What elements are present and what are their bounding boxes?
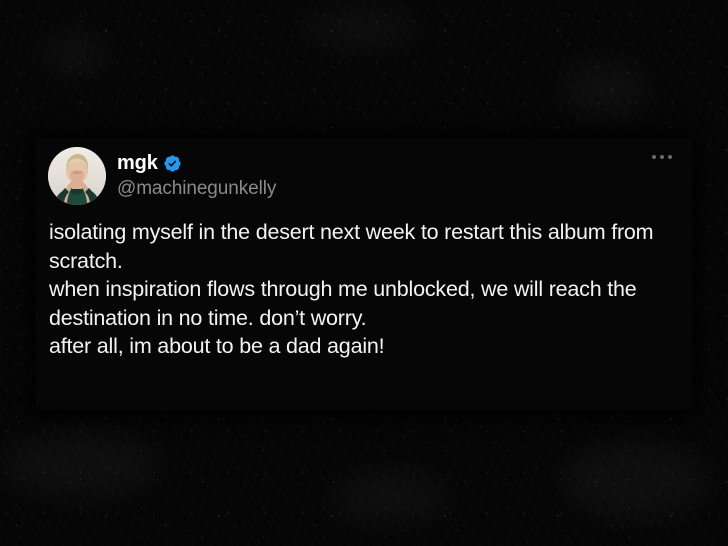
- tweet-paragraph: isolating myself in the desert next week…: [49, 218, 674, 275]
- tweet-text: isolating myself in the desert next week…: [36, 200, 692, 361]
- tweet-paragraph: when inspiration flows through me unbloc…: [49, 275, 674, 332]
- dot: [668, 155, 672, 159]
- texture-blotch: [560, 60, 650, 120]
- texture-blotch: [300, 8, 420, 48]
- ellipsis-horizontal-icon[interactable]: [652, 155, 672, 159]
- texture-blotch: [330, 470, 450, 525]
- texture-blotch: [40, 30, 110, 76]
- author-handle: @machinegunkelly: [117, 178, 276, 200]
- verified-badge-icon: [163, 154, 182, 173]
- texture-blotch: [0, 430, 160, 500]
- tweet-paragraph: after all, im about to be a dad again!: [49, 332, 674, 361]
- author-display-name: mgk: [117, 152, 158, 175]
- author-identity[interactable]: mgk @machinegunkelly: [117, 152, 276, 199]
- display-name-row: mgk: [117, 152, 276, 175]
- avatar[interactable]: [48, 147, 106, 205]
- dot: [660, 155, 664, 159]
- dot: [652, 155, 656, 159]
- tweet-card[interactable]: mgk @machinegunkelly isolating myself in…: [36, 138, 692, 410]
- texture-blotch: [560, 440, 710, 520]
- tweet-header: mgk @machinegunkelly: [36, 138, 692, 200]
